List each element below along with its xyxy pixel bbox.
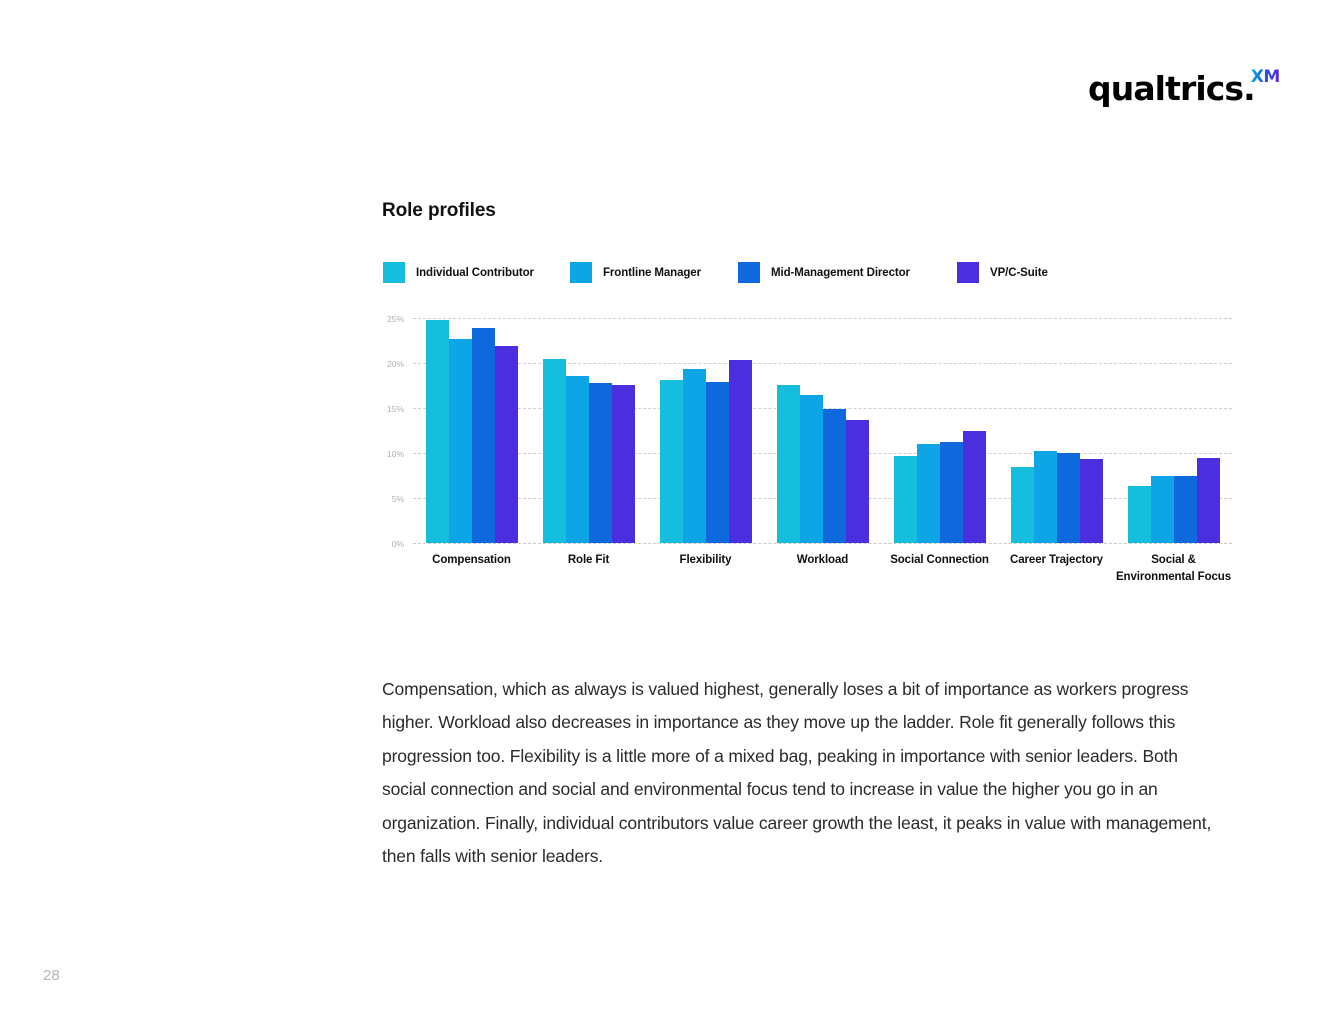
page-title: Role profiles <box>382 200 496 222</box>
body-paragraph: Compensation, which as always is valued … <box>382 673 1212 875</box>
legend-label: Frontline Manager <box>603 267 701 279</box>
bar[interactable] <box>823 409 846 543</box>
legend-item-4[interactable]: VP/C-Suite <box>957 262 1048 283</box>
bar-group <box>647 318 764 543</box>
y-axis-tick-label: 25% <box>387 314 404 324</box>
bar[interactable] <box>472 328 495 543</box>
bar-group <box>530 318 647 543</box>
chart-plot-area: 0%5%10%15%20%25% <box>413 318 1232 543</box>
legend-item-2[interactable]: Frontline Manager <box>570 262 701 283</box>
x-axis-category-label: Career Trajectory <box>998 552 1115 586</box>
x-axis-category-label: Role Fit <box>530 552 647 586</box>
bar[interactable] <box>894 456 917 543</box>
qualtrics-logo: qualtrics. XM <box>1088 72 1280 105</box>
bar-group <box>881 318 998 543</box>
legend-swatch-icon <box>570 262 592 283</box>
bar[interactable] <box>846 420 869 543</box>
logo-xm-badge: XM <box>1251 69 1280 86</box>
legend-item-1[interactable]: Individual Contributor <box>383 262 534 283</box>
chart-bar-groups <box>413 318 1232 543</box>
x-axis-category-label: Flexibility <box>647 552 764 586</box>
legend-label: Mid-Management Director <box>771 267 910 279</box>
y-axis-tick-label: 5% <box>392 494 404 504</box>
x-axis-category-label: Compensation <box>413 552 530 586</box>
bar-group <box>413 318 530 543</box>
legend-swatch-icon <box>957 262 979 283</box>
bar[interactable] <box>917 444 940 543</box>
bar[interactable] <box>1080 459 1103 543</box>
y-axis-tick-label: 10% <box>387 449 404 459</box>
bar[interactable] <box>1128 486 1151 543</box>
role-profiles-bar-chart: 0%5%10%15%20%25% CompensationRole FitFle… <box>382 310 1237 555</box>
bar[interactable] <box>800 395 823 543</box>
bar[interactable] <box>1174 476 1197 544</box>
bar[interactable] <box>566 376 589 543</box>
legend-label: VP/C-Suite <box>990 267 1048 279</box>
legend-item-3[interactable]: Mid-Management Director <box>738 262 910 283</box>
x-axis-category-label: Social Connection <box>881 552 998 586</box>
bar-group <box>764 318 881 543</box>
bar[interactable] <box>683 369 706 543</box>
x-axis-category-label: Social & Environmental Focus <box>1115 552 1232 586</box>
bar[interactable] <box>1057 453 1080 543</box>
bar[interactable] <box>426 320 449 543</box>
y-axis-tick-label: 15% <box>387 404 404 414</box>
bar[interactable] <box>1151 476 1174 544</box>
bar[interactable] <box>495 346 518 543</box>
legend-label: Individual Contributor <box>416 267 534 279</box>
chart-x-axis-labels: CompensationRole FitFlexibilityWorkloadS… <box>413 552 1232 586</box>
bar[interactable] <box>1197 458 1220 543</box>
bar[interactable] <box>612 385 635 543</box>
x-axis-category-label: Workload <box>764 552 881 586</box>
bar[interactable] <box>706 382 729 543</box>
legend-swatch-icon <box>738 262 760 283</box>
legend-swatch-icon <box>383 262 405 283</box>
bar[interactable] <box>660 380 683 543</box>
gridline-0: 0% <box>413 543 1232 544</box>
page-number: 28 <box>43 967 60 984</box>
bar-group <box>1115 318 1232 543</box>
y-axis-tick-label: 20% <box>387 359 404 369</box>
bar[interactable] <box>589 383 612 543</box>
bar-group <box>998 318 1115 543</box>
bar[interactable] <box>543 359 566 543</box>
bar[interactable] <box>1011 467 1034 544</box>
bar[interactable] <box>940 442 963 543</box>
bar[interactable] <box>1034 451 1057 543</box>
logo-wordmark: qualtrics. <box>1088 72 1255 105</box>
y-axis-tick-label: 0% <box>392 539 404 549</box>
bar[interactable] <box>963 431 986 543</box>
bar[interactable] <box>777 385 800 543</box>
chart-legend: Individual ContributorFrontline ManagerM… <box>383 262 1083 286</box>
bar[interactable] <box>449 339 472 543</box>
bar[interactable] <box>729 360 752 543</box>
